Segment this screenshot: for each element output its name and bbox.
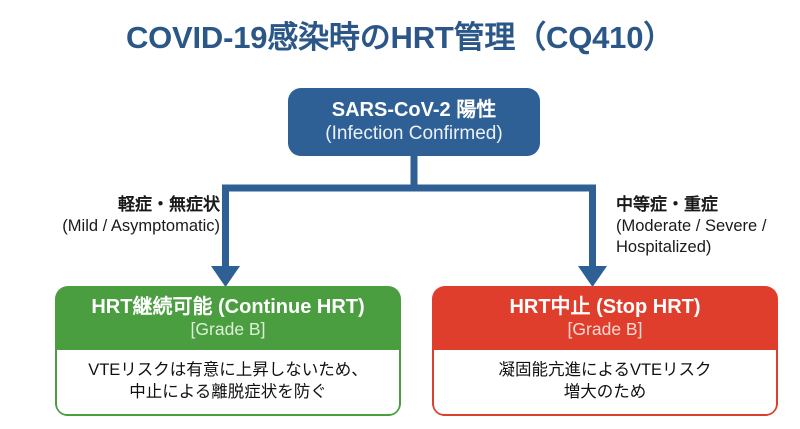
continue-hrt-rationale: VTEリスクは有意に上昇しないため、 中止による離脱症状を防ぐ (55, 350, 401, 416)
continue-hrt-header: HRT継続可能 (Continue HRT) [Grade B] (55, 286, 401, 350)
branch-label-mild-en: (Mild / Asymptomatic) (8, 216, 220, 237)
page-title: COVID-19感染時のHRT管理（CQ410） (0, 12, 800, 57)
continue-hrt-heading: HRT継続可能 (Continue HRT) (61, 295, 395, 319)
stop-hrt-rationale: 凝固能亢進によるVTEリスク 増大のため (432, 350, 778, 416)
branch-label-mild: 軽症・無症状 (Mild / Asymptomatic) (8, 194, 220, 237)
branch-label-severe: 中等症・重症 (Moderate / Severe / Hospitalized… (616, 194, 800, 258)
stop-hrt-rationale-line2: 増大のため (564, 382, 647, 404)
root-node-title: SARS-CoV-2 陽性 (332, 99, 496, 123)
node-infection-confirmed: SARS-CoV-2 陽性 (Infection Confirmed) (288, 88, 540, 156)
continue-hrt-rationale-line2: 中止による離脱症状を防ぐ (129, 382, 327, 404)
stop-hrt-grade: [Grade B] (438, 319, 772, 340)
continue-hrt-rationale-line1: VTEリスクは有意に上昇しないため、 (88, 360, 368, 382)
stop-hrt-header: HRT中止 (Stop HRT) [Grade B] (432, 286, 778, 350)
root-node-subtitle: (Infection Confirmed) (325, 123, 502, 145)
branch-label-severe-jp: 中等症・重症 (616, 194, 800, 216)
stop-hrt-heading: HRT中止 (Stop HRT) (438, 295, 772, 319)
branch-label-mild-jp: 軽症・無症状 (8, 194, 220, 216)
flowchart-canvas: COVID-19感染時のHRT管理（CQ410） SARS-CoV-2 陽性 (… (0, 0, 800, 429)
continue-hrt-grade: [Grade B] (61, 319, 395, 340)
node-continue-hrt: HRT継続可能 (Continue HRT) [Grade B] VTEリスクは… (55, 286, 401, 416)
stop-hrt-rationale-line1: 凝固能亢進によるVTEリスク (498, 360, 711, 382)
branch-label-severe-en-line2: Hospitalized) (616, 237, 800, 258)
node-stop-hrt: HRT中止 (Stop HRT) [Grade B] 凝固能亢進によるVTEリス… (432, 286, 778, 416)
branch-label-severe-en-line1: (Moderate / Severe / (616, 216, 800, 237)
